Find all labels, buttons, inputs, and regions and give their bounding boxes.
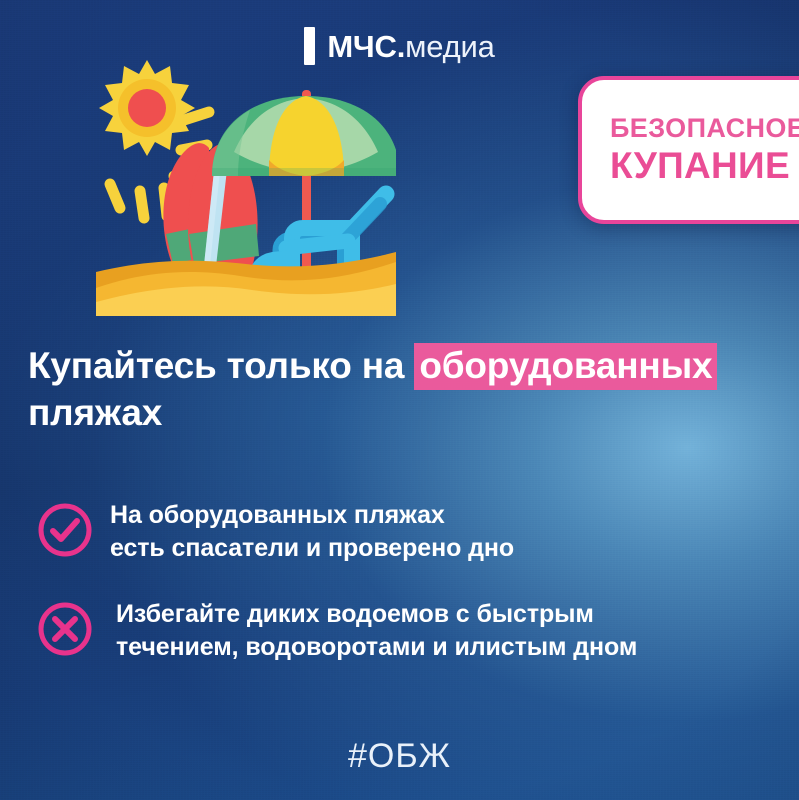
bullet-text: Избегайте диких водоемов с быстрым течен… <box>110 594 637 665</box>
bullet-list: На оборудованных пляжах есть спасатели и… <box>36 495 776 692</box>
badge-line-2: КУПАНИЕ <box>610 145 790 186</box>
badge-line-1: БЕЗОПАСНОЕ <box>610 113 799 145</box>
bullet-text: На оборудованных пляжах есть спасатели и… <box>110 495 514 566</box>
headline-before: Купайтесь только на <box>28 345 414 386</box>
bullet-line-1: На оборудованных пляжах <box>110 501 445 529</box>
headline-after: пляжах <box>28 392 162 433</box>
brand-name-dot: . <box>397 29 405 64</box>
footer-hashtag: #ОБЖ <box>0 737 799 776</box>
poster-root: МЧС.медиа БЕЗОПАСНОЕ КУПАНИЕ <box>0 0 799 800</box>
headline-highlight: оборудованных <box>414 343 717 390</box>
list-item: Избегайте диких водоемов с быстрым течен… <box>36 594 776 665</box>
list-item: На оборудованных пляжах есть спасатели и… <box>36 495 776 566</box>
bullet-line-2: течением, водоворотами и илистым дном <box>116 631 637 664</box>
bullet-line-1: Избегайте диких водоемов с быстрым <box>116 600 594 628</box>
cross-circle-icon <box>36 600 94 658</box>
brand-name-light: медиа <box>405 29 495 64</box>
bullet-line-2: есть спасатели и проверено дно <box>110 532 514 565</box>
beach-umbrella <box>212 96 396 176</box>
page-title: Купайтесь только на оборудованных пляжах <box>28 342 773 437</box>
topic-badge: БЕЗОПАСНОЕ КУПАНИЕ <box>578 76 799 224</box>
beach-scene-illustration <box>96 48 396 316</box>
sun-icon <box>99 60 195 156</box>
check-circle-icon <box>36 501 94 559</box>
